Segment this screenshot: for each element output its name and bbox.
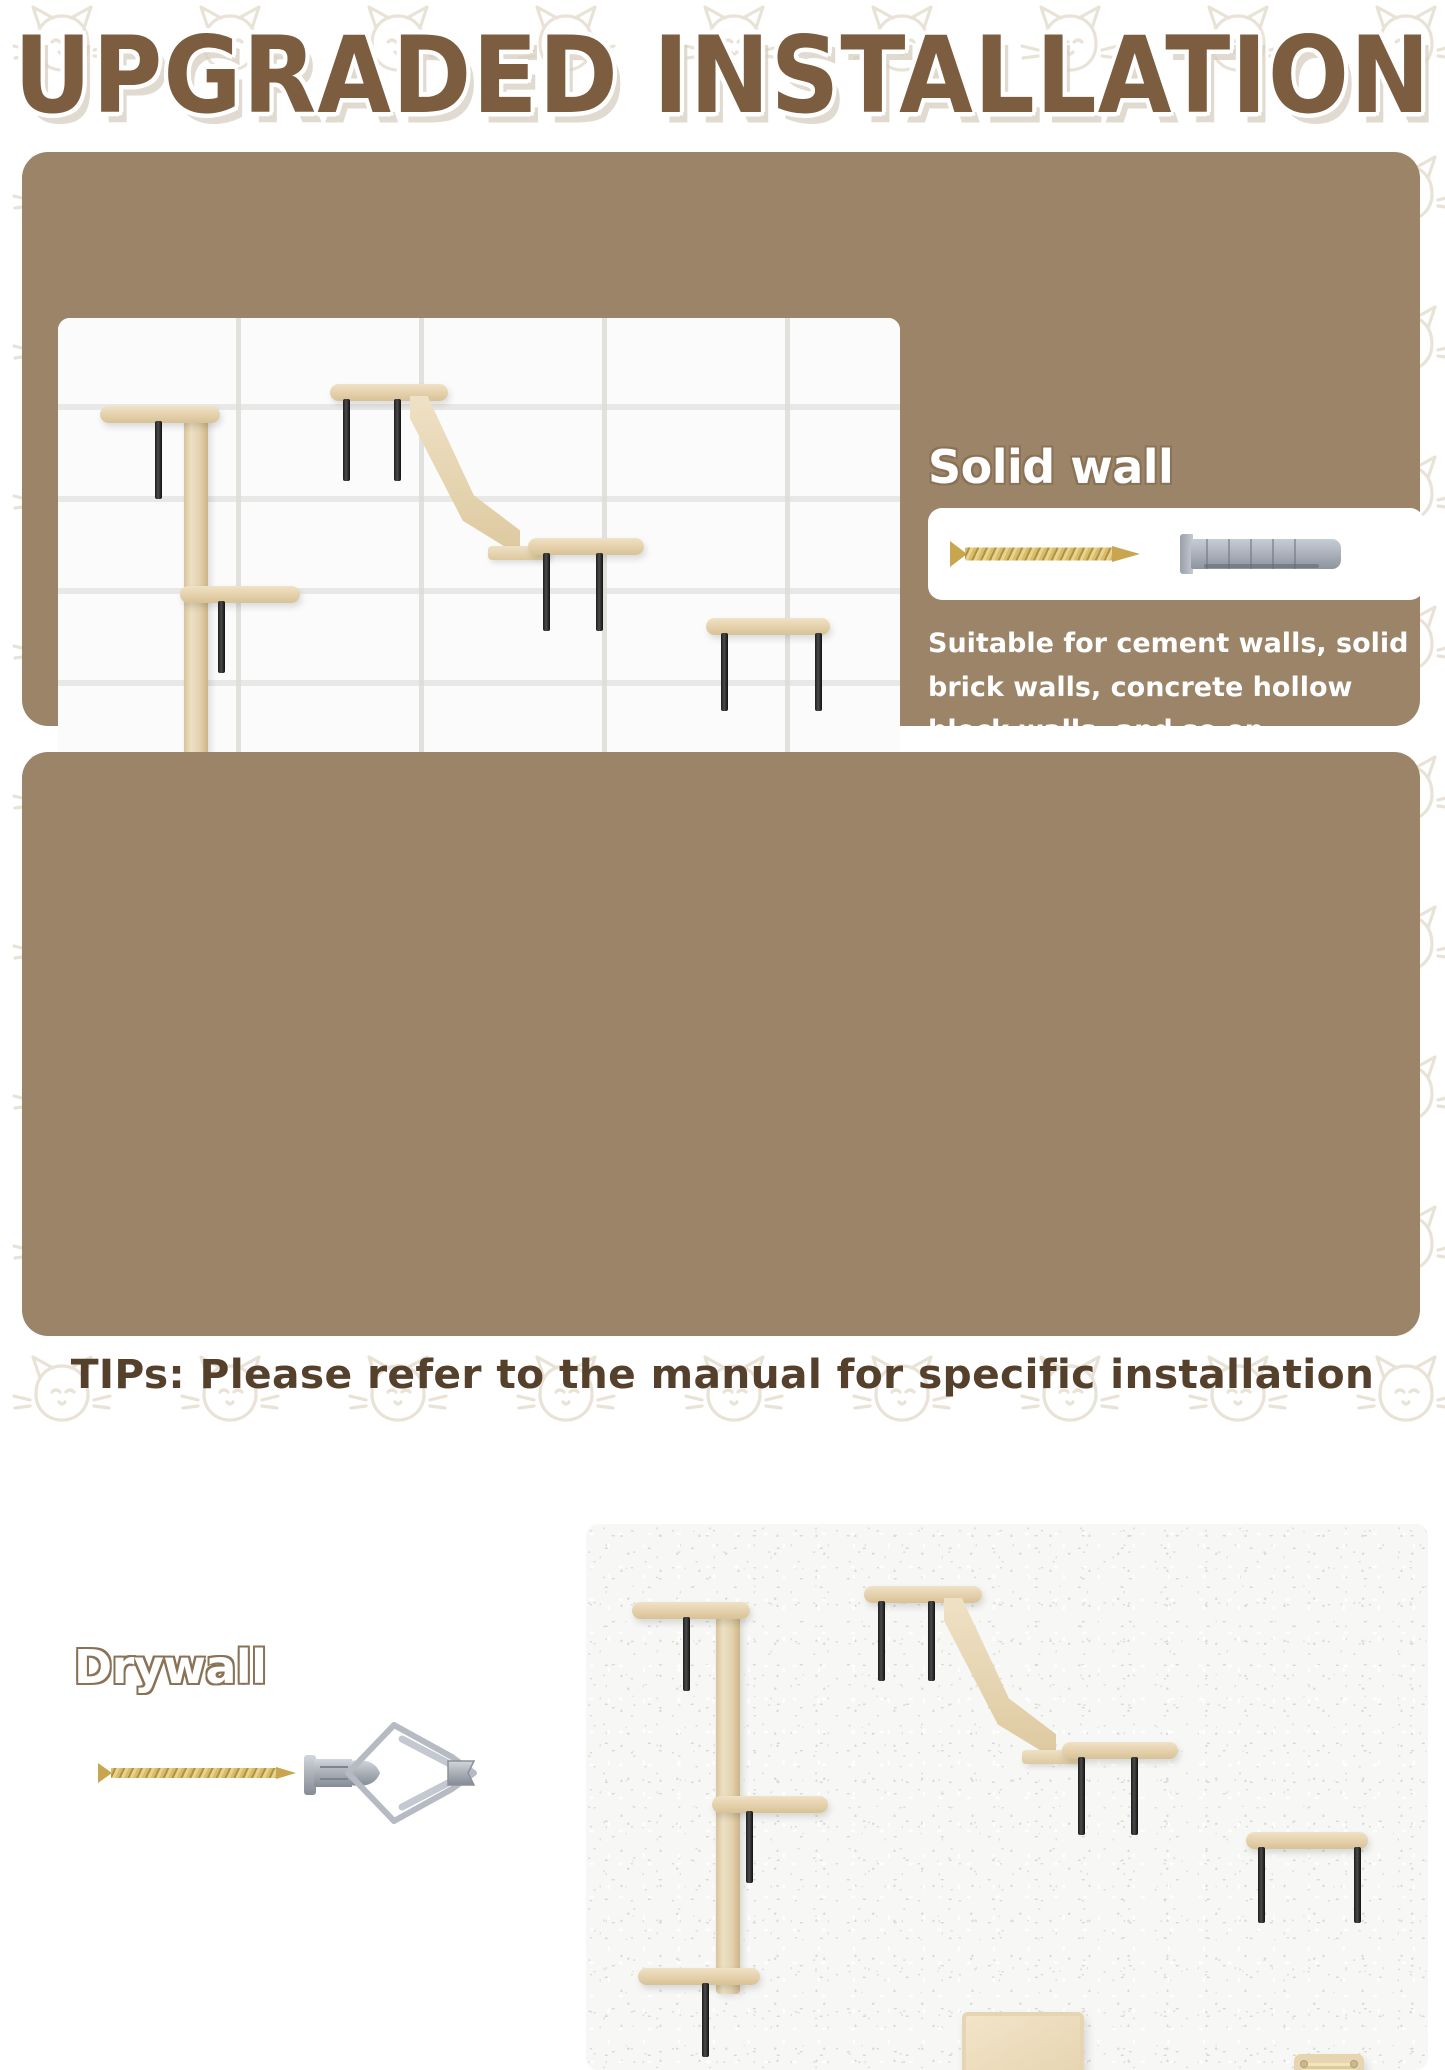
anchor-slot	[1204, 564, 1319, 568]
toggle-anchor-graphic	[302, 1717, 484, 1829]
shelf-leg	[815, 633, 822, 711]
solid-wall-panel: Solid wall Suitable for	[22, 152, 1420, 726]
board-grommet	[1350, 2060, 1358, 2068]
mid-step-shelf	[180, 586, 300, 603]
shelf-leg	[746, 1811, 753, 1883]
shelf-leg	[683, 1617, 690, 1691]
shelf-leg	[596, 553, 603, 631]
sisal-surface	[1302, 2063, 1356, 2070]
shelf-leg	[1354, 1847, 1361, 1923]
shelf-leg	[218, 601, 225, 673]
gold-wood-screw-icon	[98, 1761, 298, 1785]
infographic-page: UPGRADED INSTALLATION	[0, 0, 1445, 1433]
shelf-leg	[394, 399, 401, 481]
fabric-hammock	[962, 2012, 1084, 2070]
tips-note: TIPs: Please refer to the manual for spe…	[0, 1352, 1445, 1398]
mid-step-shelf	[712, 1796, 828, 1813]
page-title: UPGRADED INSTALLATION	[14, 14, 1431, 138]
shelf-leg	[343, 399, 350, 481]
shelf-leg	[1131, 1757, 1138, 1835]
shelf-leg	[155, 421, 162, 499]
drywall-description: Both sides need to be mounted on the stu…	[74, 1860, 542, 1947]
solid-wall-heading: Solid wall	[928, 440, 1424, 494]
metal-butterfly-toggle-anchor-icon	[302, 1717, 484, 1829]
gold-wood-screw-icon	[950, 540, 1150, 568]
shelf-leg	[702, 1983, 709, 2057]
screw-tip	[950, 540, 1150, 568]
solid-wall-hardware-card	[928, 508, 1424, 600]
shelf-leg	[928, 1601, 935, 1681]
sisal-scratching-board	[1294, 2054, 1364, 2070]
drywall-photo	[586, 1524, 1428, 2070]
board-grommet	[1300, 2060, 1308, 2068]
shelf-leg	[721, 633, 728, 711]
shelf-leg	[543, 553, 550, 631]
drywall-hardware-card	[74, 1708, 542, 1838]
solid-wall-description: Suitable for cement walls, solid brick w…	[928, 622, 1424, 753]
shelf-leg	[1078, 1757, 1085, 1835]
solid-wall-info: Solid wall Suitable for	[928, 440, 1424, 753]
drywall-panel: Drywall	[22, 752, 1420, 1336]
lower-step-shelf	[638, 1968, 760, 1985]
upper-step-shelf	[632, 1602, 750, 1619]
gray-plastic-expansion-anchor-icon	[1180, 532, 1370, 576]
screw-tip	[98, 1761, 298, 1785]
right-perch-shelf	[1246, 1832, 1368, 1849]
shelf-leg	[878, 1601, 885, 1681]
page-title-container: UPGRADED INSTALLATION	[0, 14, 1445, 119]
shelf-leg	[1258, 1847, 1265, 1923]
drywall-heading: Drywall	[74, 1640, 542, 1694]
drywall-info: Drywall	[74, 1640, 542, 1947]
